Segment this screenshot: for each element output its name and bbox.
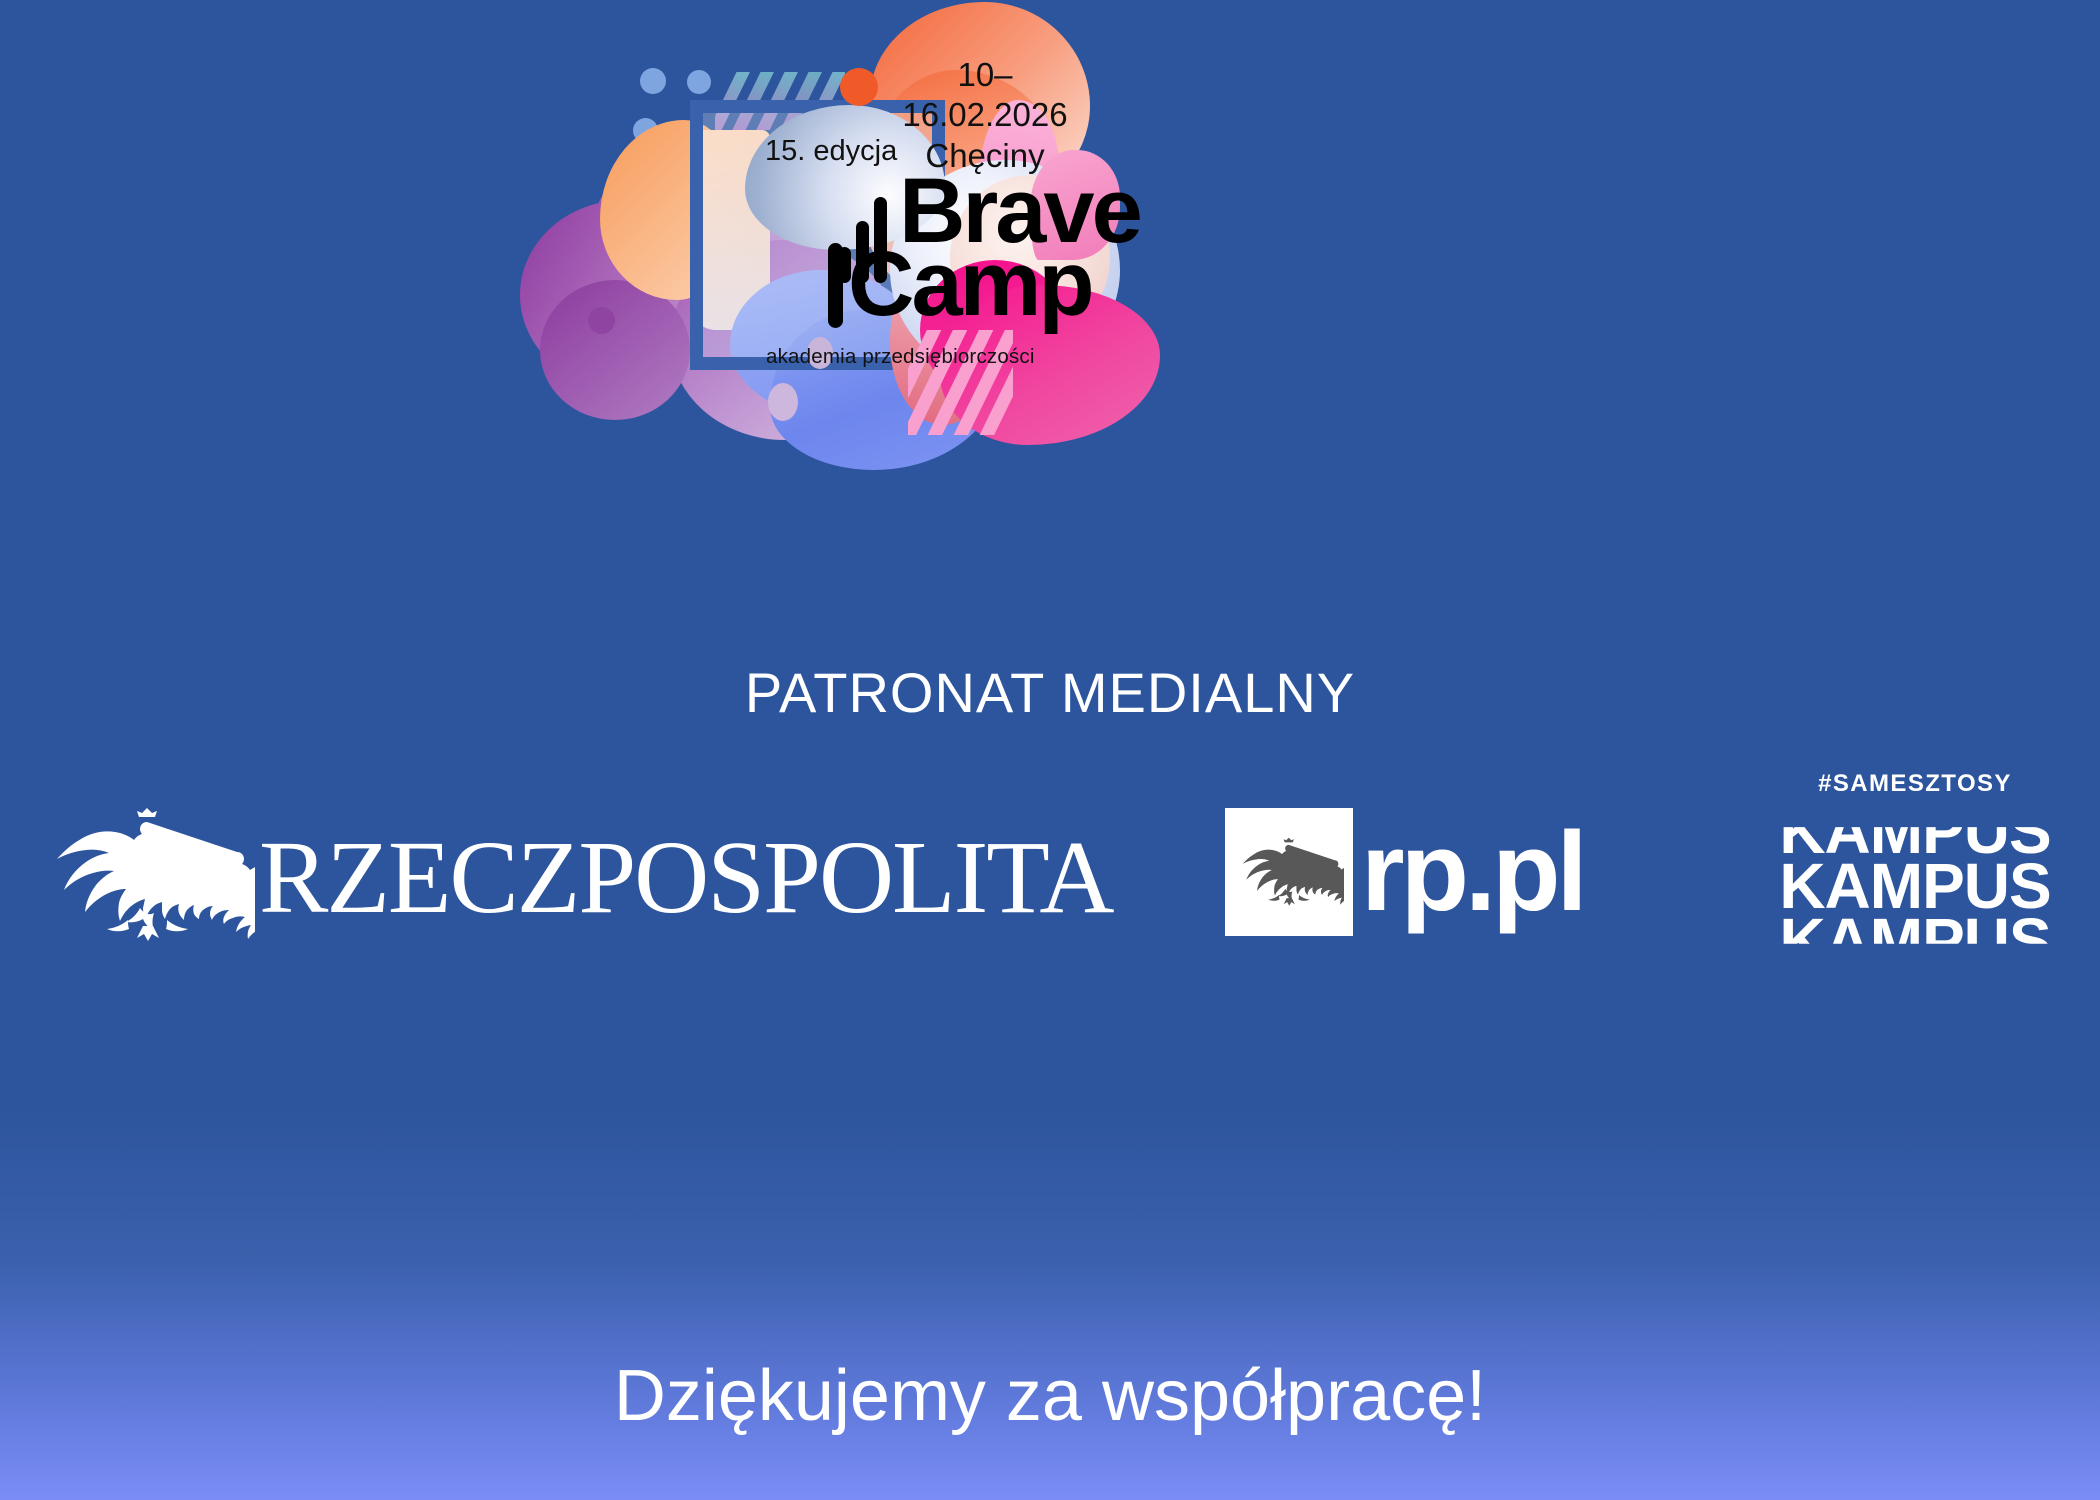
section-title: PATRONAT MEDIALNY (0, 660, 2100, 725)
partner-logo-kampus[interactable]: #SAMESZTOSY KAMPUS KAMPUS KAMPUS (1760, 770, 2070, 974)
wordmark: 10–16.02.2026 Chęciny 15. edycja Brave C… (560, 10, 1180, 450)
event-date-range: 10–16.02.2026 (875, 55, 1095, 136)
partner-logo-rzeczpospolita[interactable]: RZECZPOSPOLITA (40, 800, 1113, 955)
kampus-hashtag: #SAMESZTOSY (1760, 770, 2070, 798)
brand-line-2: Camp (848, 238, 1092, 330)
kampus-word-top: KAMPUS (1760, 804, 2070, 859)
partner-logo-rp-pl[interactable]: rp.pl (1225, 808, 1584, 936)
kampus-word-main: KAMPUS (1760, 859, 2070, 914)
partner-logos-row: RZECZPOSPOLITA rp.pl #SA (0, 770, 2100, 1000)
i-stem-icon (828, 243, 843, 328)
thanks-message: Dziękujemy za współpracę! (0, 1355, 2100, 1437)
eagle-icon (1225, 808, 1353, 936)
brand-tagline: akademia przedsiębiorczości (766, 345, 1035, 369)
eagle-icon (40, 800, 255, 955)
brave-camp-logo: 10–16.02.2026 Chęciny 15. edycja Brave C… (560, 10, 1180, 450)
edition-label: 15. edycja (765, 135, 897, 168)
partner-name-rzeczpospolita: RZECZPOSPOLITA (259, 826, 1113, 930)
event-date: 10–16.02.2026 Chęciny (875, 55, 1095, 176)
slide-canvas: 10–16.02.2026 Chęciny 15. edycja Brave C… (0, 0, 2100, 1500)
partner-name-rp-pl: rp.pl (1361, 816, 1584, 928)
kampus-wordmark-stack: KAMPUS KAMPUS KAMPUS (1760, 804, 2070, 974)
kampus-word-bottom: KAMPUS (1760, 914, 2070, 969)
